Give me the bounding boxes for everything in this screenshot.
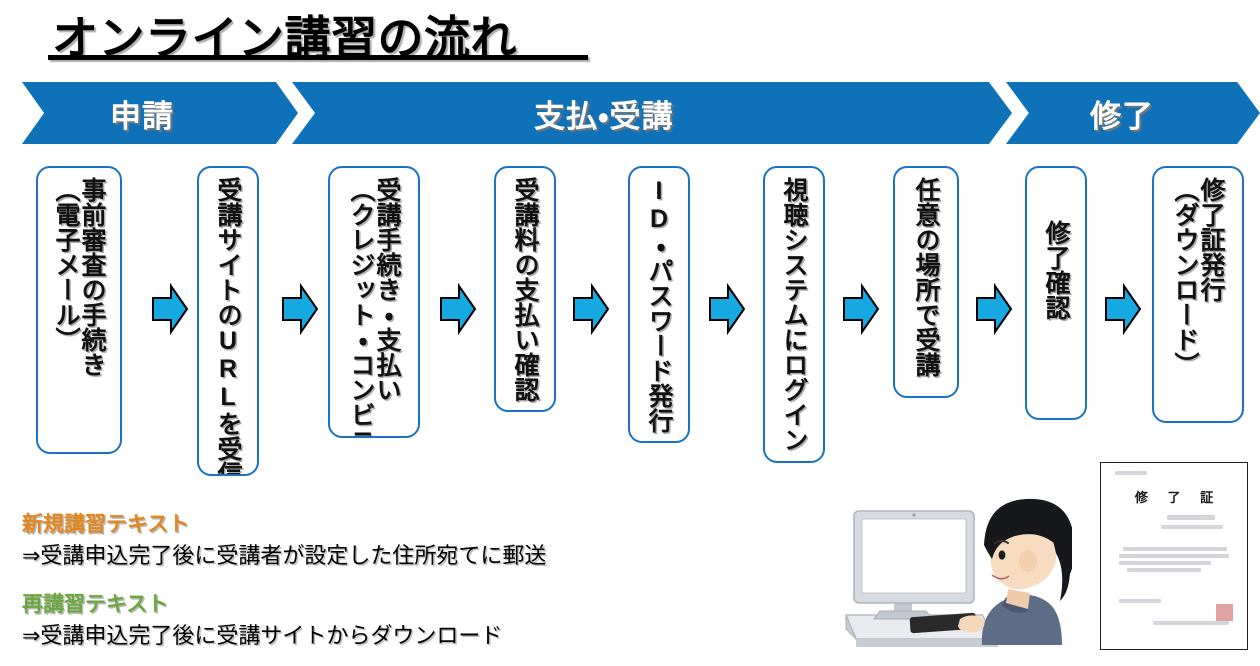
flow-step-box: 任意の場所で受講	[893, 166, 959, 398]
cert-seal-icon	[1216, 604, 1233, 621]
flow-arrow-icon	[281, 283, 319, 335]
flow-arrow-icon	[842, 283, 880, 335]
flow-arrow-icon	[1104, 283, 1142, 335]
flow-step-line: 視聴システムにログイン	[781, 177, 807, 452]
flow-step-line: 受講料の支払い確認	[512, 177, 538, 402]
cert-text-blurred	[1119, 599, 1161, 603]
flow-step-line: （電子メール）	[53, 177, 79, 352]
cert-text-blurred	[1167, 515, 1215, 520]
cert-text-blurred	[1115, 471, 1147, 475]
cert-text-blurred	[1123, 547, 1227, 551]
flow-arrow-icon	[439, 283, 477, 335]
flow-step-box: 修了確認	[1025, 166, 1087, 420]
phase-chevron-payment-attendance: 支払・受講	[292, 82, 1012, 144]
flow-step-text: 受講手続き・支払い （クレジット・コンビニ）	[330, 177, 418, 430]
page-title-underline	[48, 55, 588, 60]
cert-title: 修 了 証	[1101, 487, 1247, 506]
flow-step-box: ID・パスワード発行	[628, 166, 690, 443]
flow-step-text: 修了確認	[1027, 220, 1085, 412]
phase-chevron-application: 申請	[22, 82, 298, 144]
flow-arrow-icon	[151, 283, 189, 335]
completion-certificate-image: 修 了 証	[1100, 462, 1248, 650]
flow-step-line: （ダウンロード）	[1172, 177, 1198, 377]
flow-arrow-icon	[975, 283, 1013, 335]
flow-step-box: 受講手続き・支払い （クレジット・コンビニ）	[328, 166, 420, 438]
person-at-computer-illustration	[832, 489, 1072, 657]
flow-step-box: 視聴システムにログイン	[763, 166, 825, 463]
flow-step-box: 受講料の支払い確認	[494, 166, 556, 412]
flow-step-text: ID・パスワード発行	[630, 177, 688, 435]
flow-step-line: 受講サイトのURLを受信	[215, 177, 241, 476]
flow-step-text: 受講料の支払い確認	[496, 177, 554, 404]
cert-text-blurred	[1153, 621, 1229, 625]
note-heading-refresher-course: 再講習テキスト	[22, 588, 168, 618]
cert-text-blurred	[1119, 554, 1229, 558]
flow-step-text: 修了証発行 （ダウンロード）	[1154, 177, 1242, 415]
phase-chevron-label: 支払・受講	[534, 91, 674, 136]
flow-step-text: 事前審査の手続き （電子メール）	[38, 177, 120, 446]
phase-chevron-completion: 修了	[1006, 82, 1260, 144]
flow-step-box: 受講サイトのURLを受信	[197, 166, 259, 476]
note-body-refresher-course: ⇒受講申込完了後に受講サイトからダウンロード	[22, 618, 502, 650]
flow-step-text: 受講サイトのURLを受信	[199, 177, 257, 468]
phase-chevron-label: 修了	[1090, 91, 1154, 136]
flow-arrow-icon	[572, 283, 610, 335]
phase-banner: 申請 支払・受講 修了	[0, 82, 1260, 144]
flow-step-text: 任意の場所で受講	[895, 177, 957, 390]
flow-arrow-icon	[708, 283, 746, 335]
note-body-new-course: ⇒受講申込完了後に受講者が設定した住所宛てに郵送	[22, 538, 546, 570]
flow-step-text: 視聴システムにログイン	[765, 177, 823, 455]
note-heading-new-course: 新規講習テキスト	[22, 508, 189, 538]
cert-text-blurred	[1127, 568, 1201, 572]
flow-step-line: 修了確認	[1043, 220, 1069, 320]
flow-step-box: 事前審査の手続き （電子メール）	[36, 166, 122, 454]
flow-step-line: 事前審査の手続き	[79, 177, 105, 377]
flow-step-line: 修了証発行	[1198, 177, 1224, 302]
flow-step-line: 受講手続き・支払い	[374, 177, 400, 402]
cert-text-blurred	[1119, 561, 1211, 565]
flow-step-line: （クレジット・コンビニ）	[348, 177, 374, 438]
flow-step-line: ID・パスワード発行	[646, 177, 672, 433]
cert-text-blurred	[1161, 525, 1223, 529]
flow-step-line: 任意の場所で受講	[913, 177, 939, 377]
phase-chevron-label: 申請	[110, 91, 174, 136]
flow-step-box: 修了証発行 （ダウンロード）	[1152, 166, 1244, 423]
